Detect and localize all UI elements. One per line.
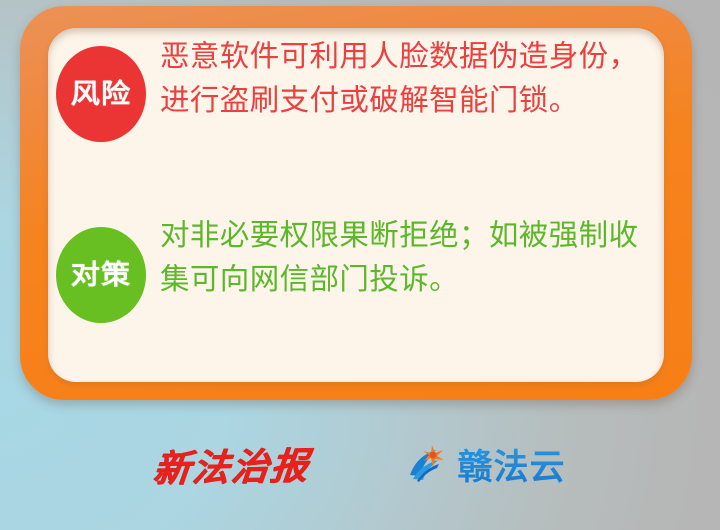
risk-badge: 风险 bbox=[56, 46, 146, 142]
footer-logos: 新法治报 赣法云 bbox=[0, 418, 720, 510]
risk-badge-label: 风险 bbox=[71, 81, 131, 108]
newspaper-logo: 新法治报 bbox=[152, 435, 314, 492]
cloud-logo: 赣法云 bbox=[406, 439, 565, 490]
poster-canvas: 风险 恶意软件可利用人脸数据伪造身份，进行盗刷支付或破解智能门锁。 对策 对非必… bbox=[0, 0, 720, 530]
countermeasure-badge: 对策 bbox=[56, 227, 146, 323]
risk-section: 风险 恶意软件可利用人脸数据伪造身份，进行盗刷支付或破解智能门锁。 bbox=[56, 34, 656, 142]
countermeasure-description-text: 对非必要权限果断拒绝；如被强制收集可向网信部门投诉。 bbox=[160, 213, 650, 301]
countermeasure-badge-label: 对策 bbox=[71, 262, 131, 289]
risk-description-text: 恶意软件可利用人脸数据伪造身份，进行盗刷支付或破解智能门锁。 bbox=[160, 34, 650, 122]
star-person-swoosh-icon bbox=[406, 442, 450, 486]
cloud-logo-label: 赣法云 bbox=[457, 439, 565, 490]
countermeasure-section: 对策 对非必要权限果断拒绝；如被强制收集可向网信部门投诉。 bbox=[56, 213, 656, 323]
